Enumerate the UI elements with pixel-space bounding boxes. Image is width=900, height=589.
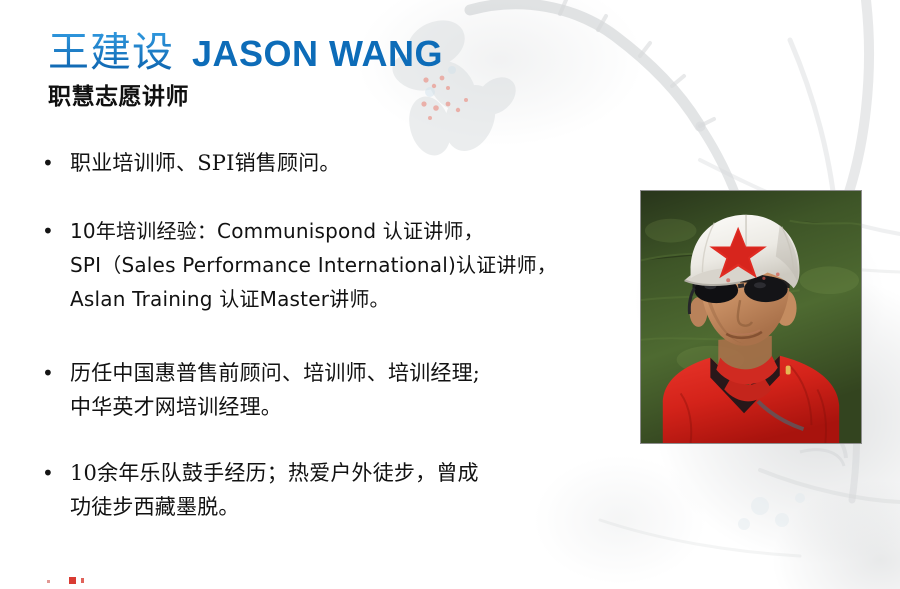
bullet-marker-icon: • xyxy=(36,456,70,490)
portrait-photo xyxy=(640,190,862,444)
seal-fragment-icon xyxy=(69,577,76,584)
list-item: • 10年培训经验：Communispond 认证讲师， SPI（Sales P… xyxy=(36,214,636,316)
bullet-line: Aslan Training 认证Master讲师。 xyxy=(70,282,636,316)
list-item: • 10余年乐队鼓手经历；热爱户外徒步，曾成 功徒步西藏墨脱。 xyxy=(36,456,636,524)
bullet-marker-icon: • xyxy=(36,146,70,180)
bullet-line: 10余年乐队鼓手经历；热爱户外徒步，曾成 xyxy=(70,456,636,490)
title-english-name: JASON WANG xyxy=(192,36,443,72)
bullet-line: 功徒步西藏墨脱。 xyxy=(70,490,636,524)
list-item-text: 10年培训经验：Communispond 认证讲师， SPI（Sales Per… xyxy=(70,214,636,316)
list-item-text: 历任中国惠普售前顾问、培训师、培训经理; 中华英才网培训经理。 xyxy=(70,356,636,424)
bullet-list: • 职业培训师、SPI销售顾问。 • 10年培训经验：Communispond … xyxy=(36,146,636,550)
presentation-slide: 王建设 JASON WANG 职慧志愿讲师 • 职业培训师、SPI销售顾问。 •… xyxy=(0,0,900,589)
bullet-line: 历任中国惠普售前顾问、培训师、培训经理; xyxy=(70,356,636,390)
seal-fragment-icon xyxy=(47,580,50,583)
page-title: 王建设 JASON WANG xyxy=(48,32,443,73)
bullet-marker-icon: • xyxy=(36,356,70,390)
page-subtitle: 职慧志愿讲师 xyxy=(48,84,189,112)
bullet-marker-icon: • xyxy=(36,214,70,248)
list-item: • 职业培训师、SPI销售顾问。 xyxy=(36,146,636,180)
list-item: • 历任中国惠普售前顾问、培训师、培训经理; 中华英才网培训经理。 xyxy=(36,356,636,424)
seal-fragment-icon xyxy=(81,578,84,583)
blossom-stamen xyxy=(421,76,468,120)
portrait-photo-image xyxy=(641,191,861,443)
bullet-line: 职业培训师、SPI销售顾问。 xyxy=(70,146,636,180)
bullet-line: 10年培训经验：Communispond 认证讲师， xyxy=(70,214,636,248)
list-item-text: 10余年乐队鼓手经历；热爱户外徒步，曾成 功徒步西藏墨脱。 xyxy=(70,456,636,524)
title-chinese-name: 王建设 xyxy=(48,32,174,73)
bullet-line: SPI（Sales Performance International)认证讲师… xyxy=(70,248,636,282)
list-item-text: 职业培训师、SPI销售顾问。 xyxy=(70,146,636,180)
bullet-line: 中华英才网培训经理。 xyxy=(70,390,636,424)
